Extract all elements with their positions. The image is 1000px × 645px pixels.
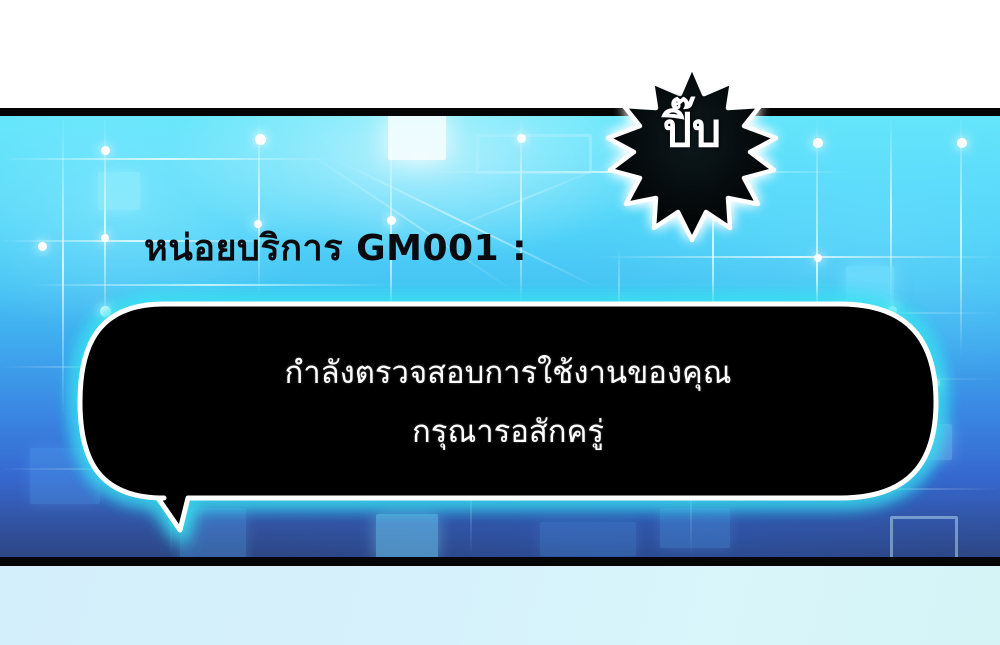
comic-page: หน่อยบริการ GM001 : กำลังตรวจสอบการใช้งา… [0, 0, 1000, 645]
circuit-line-icon [520, 116, 522, 316]
circuit-node-icon [517, 134, 526, 143]
sfx-badge: ปิ๊บ [604, 64, 780, 242]
circuit-node-icon [254, 220, 262, 228]
circuit-node-icon [101, 146, 110, 155]
panel-border-top [0, 108, 1000, 116]
footer-panel [0, 566, 1000, 645]
circuit-node-icon [255, 134, 266, 145]
circuit-line-icon [600, 256, 1000, 258]
speech-bubble: กำลังตรวจสอบการใช้งานของคุณ กรุณารอสักคร… [68, 292, 948, 528]
bubble-text-line-1: กำลังตรวจสอบการใช้งานของคุณ [108, 344, 908, 403]
bubble-text-line-2: กรุณารอสักครู่ [108, 403, 908, 462]
starburst-body [608, 66, 776, 240]
circuit-node-icon [101, 234, 109, 242]
bubble-text: กำลังตรวจสอบการใช้งานของคุณ กรุณารอสักคร… [108, 344, 908, 462]
circuit-node-icon [957, 138, 967, 148]
circuit-node-icon [814, 254, 822, 262]
circuit-line-icon [960, 116, 962, 356]
circuit-node-icon [38, 242, 47, 251]
starburst-icon [604, 64, 780, 242]
circuit-line-icon [330, 156, 601, 289]
page-gutter-top [0, 0, 1000, 108]
circuit-square-icon [388, 116, 446, 160]
circuit-line-icon [30, 284, 390, 286]
circuit-node-icon [387, 216, 396, 225]
circuit-square-icon [476, 134, 592, 174]
speaker-label: หน่อยบริการ GM001 : [144, 228, 527, 269]
panel-border-bottom [0, 557, 1000, 566]
circuit-node-icon [813, 138, 823, 148]
circuit-line-icon [299, 146, 516, 293]
circuit-square-icon [98, 172, 140, 210]
circuit-line-icon [0, 158, 330, 160]
circuit-line-icon [62, 116, 64, 416]
circuit-line-icon [430, 161, 616, 238]
circuit-line-icon [890, 116, 892, 316]
